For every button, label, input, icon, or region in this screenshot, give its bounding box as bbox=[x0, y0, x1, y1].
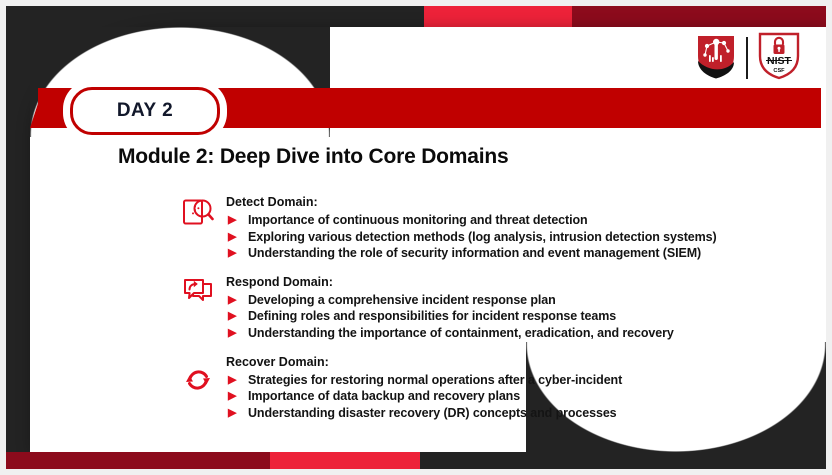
section-heading: Recover Domain: bbox=[226, 354, 818, 370]
svg-text:CSF: CSF bbox=[773, 68, 785, 74]
topbar-segment-dark bbox=[6, 6, 424, 27]
bullet-arrow-icon: ▶ bbox=[228, 232, 238, 242]
refresh-cycle-icon bbox=[178, 360, 218, 400]
section-detect-domain: Detect Domain: ▶ Importance of continuou… bbox=[178, 194, 818, 262]
bullet-arrow-icon: ▶ bbox=[228, 215, 238, 225]
list-item: ▶ Understanding disaster recovery (DR) c… bbox=[226, 405, 818, 422]
section-recover-domain: Recover Domain: ▶ Strategies for restori… bbox=[178, 354, 818, 422]
list-item-text: Exploring various detection methods (log… bbox=[248, 230, 717, 244]
bullet-list: ▶ Importance of continuous monitoring an… bbox=[226, 212, 818, 262]
list-item: ▶ Understanding the importance of contai… bbox=[226, 325, 818, 342]
list-item: ▶ Strategies for restoring normal operat… bbox=[226, 372, 818, 389]
bottombar-segment-darkred bbox=[6, 452, 270, 469]
bullet-arrow-icon: ▶ bbox=[228, 311, 238, 321]
bullet-arrow-icon: ▶ bbox=[228, 375, 238, 385]
bottom-color-strip bbox=[6, 452, 826, 469]
list-item: ▶ Defining roles and responsibilities fo… bbox=[226, 308, 818, 325]
page-title: Module 2: Deep Dive into Core Domains bbox=[118, 145, 509, 169]
topbar-segment-red bbox=[424, 6, 572, 27]
logo-group: NIST CSF bbox=[694, 30, 802, 85]
top-color-strip bbox=[6, 6, 826, 27]
speech-bubbles-reply-icon bbox=[178, 276, 218, 316]
day-badge-label: DAY 2 bbox=[117, 100, 173, 122]
list-item: ▶ Understanding the role of security inf… bbox=[226, 245, 818, 262]
bottombar-segment-red bbox=[270, 452, 420, 469]
domain-sections: Detect Domain: ▶ Importance of continuou… bbox=[178, 194, 818, 433]
bullet-arrow-icon: ▶ bbox=[228, 391, 238, 401]
slide-canvas: DAY 2 bbox=[0, 0, 832, 475]
section-heading: Respond Domain: bbox=[226, 274, 818, 290]
list-item: ▶ Exploring various detection methods (l… bbox=[226, 229, 818, 246]
bullet-arrow-icon: ▶ bbox=[228, 408, 238, 418]
list-item-text: Understanding the importance of containm… bbox=[248, 326, 674, 340]
bottombar-segment-dark bbox=[420, 452, 826, 469]
list-item-text: Importance of continuous monitoring and … bbox=[248, 213, 588, 227]
slide-frame: DAY 2 bbox=[6, 6, 826, 469]
list-item-text: Understanding the role of security infor… bbox=[248, 246, 701, 260]
section-respond-domain: Respond Domain: ▶ Developing a comprehen… bbox=[178, 274, 818, 342]
list-item-text: Developing a comprehensive incident resp… bbox=[248, 293, 556, 307]
cyber-shield-logo bbox=[694, 31, 738, 84]
list-item: ▶ Importance of data backup and recovery… bbox=[226, 388, 818, 405]
bullet-arrow-icon: ▶ bbox=[228, 248, 238, 258]
list-item: ▶ Developing a comprehensive incident re… bbox=[226, 292, 818, 309]
bullet-list: ▶ Strategies for restoring normal operat… bbox=[226, 372, 818, 422]
document-magnifier-icon bbox=[178, 196, 218, 236]
topbar-segment-darkred bbox=[572, 6, 826, 27]
list-item-text: Strategies for restoring normal operatio… bbox=[248, 373, 622, 387]
list-item-text: Defining roles and responsibilities for … bbox=[248, 309, 616, 323]
bullet-arrow-icon: ▶ bbox=[228, 295, 238, 305]
list-item: ▶ Importance of continuous monitoring an… bbox=[226, 212, 818, 229]
day-badge: DAY 2 bbox=[70, 87, 220, 135]
nist-csf-logo: NIST CSF bbox=[756, 30, 802, 85]
list-item-text: Understanding disaster recovery (DR) con… bbox=[248, 406, 617, 420]
logo-divider bbox=[746, 37, 748, 79]
list-item-text: Importance of data backup and recovery p… bbox=[248, 389, 520, 403]
section-heading: Detect Domain: bbox=[226, 194, 818, 210]
bullet-arrow-icon: ▶ bbox=[228, 328, 238, 338]
bullet-list: ▶ Developing a comprehensive incident re… bbox=[226, 292, 818, 342]
